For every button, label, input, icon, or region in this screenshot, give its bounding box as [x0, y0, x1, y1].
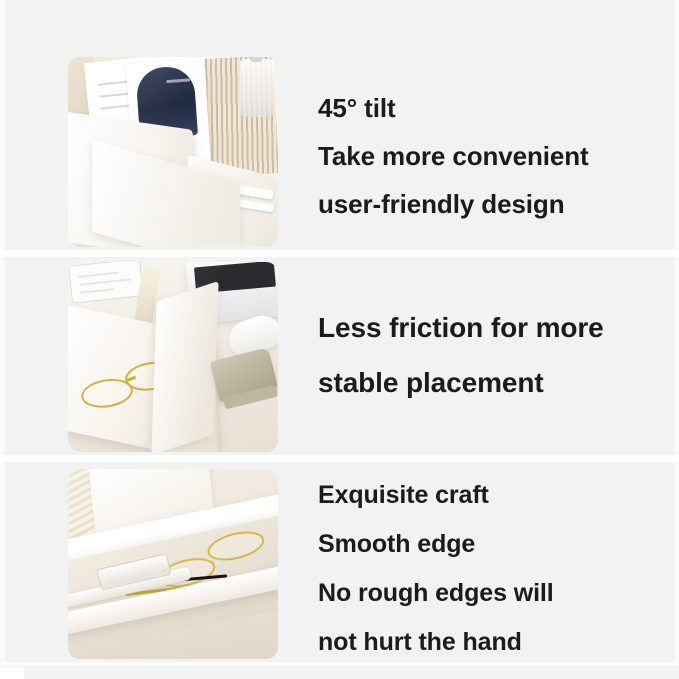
- bottom-strip-nub: [0, 667, 24, 679]
- feature-line: not hurt the hand: [318, 618, 667, 667]
- feature-line: user-friendly design: [318, 180, 667, 228]
- tray-with-glasses-and-stapler-photo: [68, 262, 278, 452]
- details-page: Details: [0, 0, 679, 679]
- feature-text-2: Less friction for more stable placement: [318, 300, 667, 410]
- page-bottom-strip: [0, 666, 679, 679]
- feature-text-3: Exquisite craft Smooth edge No rough edg…: [318, 471, 667, 667]
- page-right-edge: [674, 0, 679, 679]
- feature-line: Less friction for more: [318, 300, 667, 355]
- feature-line: 45° tilt: [318, 84, 667, 132]
- feature-line: Exquisite craft: [318, 471, 667, 520]
- feature-line: stable placement: [318, 355, 667, 410]
- feature-line: No rough edges will: [318, 569, 667, 618]
- drawer-closeup-pens-and-glasses-photo: [68, 469, 278, 659]
- feature-line: Smooth edge: [318, 520, 667, 569]
- feature-text-1: 45° tilt Take more convenient user-frien…: [318, 84, 667, 228]
- section-divider: [0, 455, 679, 462]
- desk-file-holder-with-books-photo: [68, 57, 278, 247]
- feature-line: Take more convenient: [318, 132, 667, 180]
- section-divider: [0, 250, 679, 257]
